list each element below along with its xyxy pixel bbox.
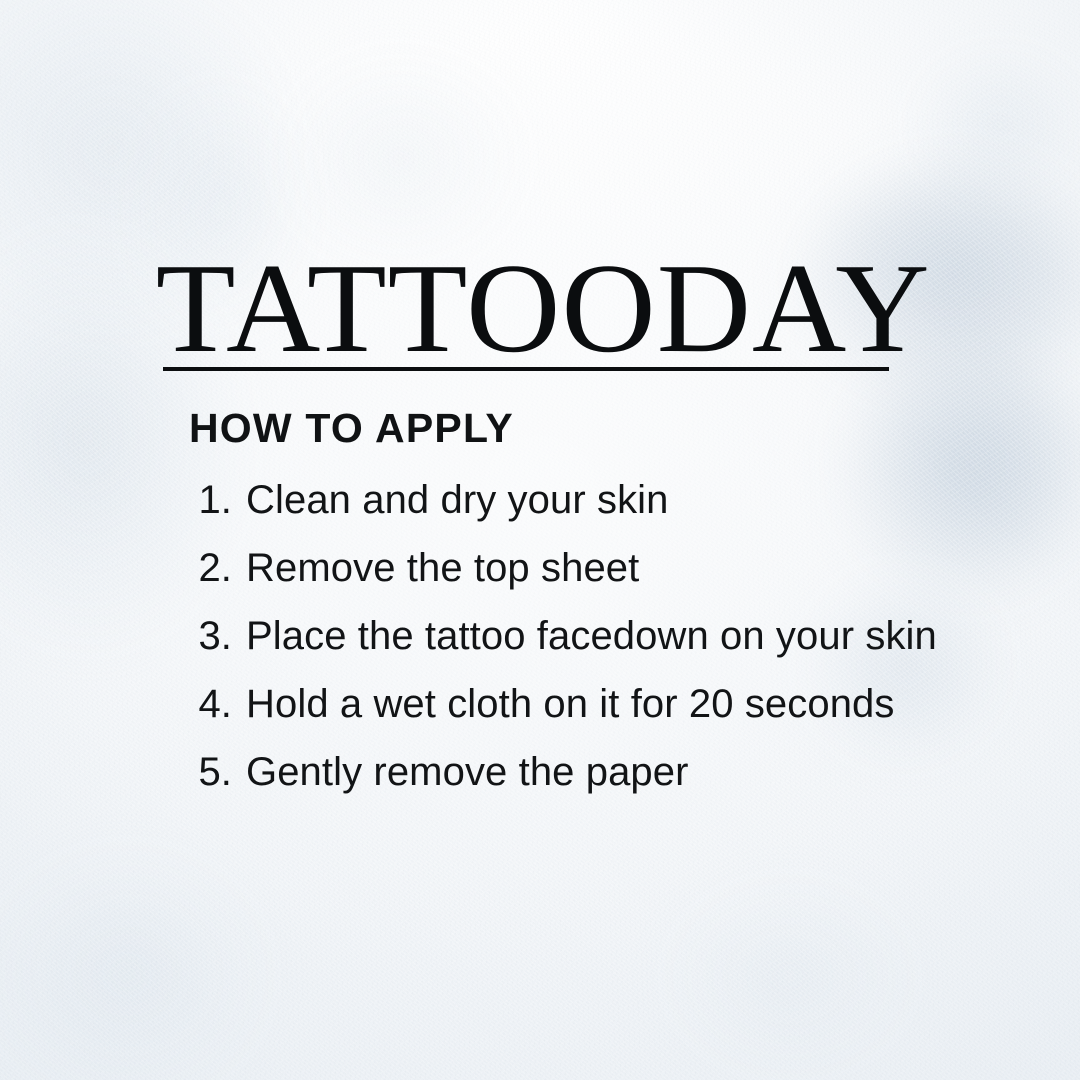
step-number: 2. xyxy=(186,534,232,602)
list-item: 4. Hold a wet cloth on it for 20 seconds xyxy=(186,670,1006,738)
section-heading-how-to-apply: HOW TO APPLY xyxy=(189,408,514,449)
list-item: 2. Remove the top sheet xyxy=(186,534,1006,602)
steps-list: 1. Clean and dry your skin 2. Remove the… xyxy=(186,466,1006,806)
step-number: 5. xyxy=(186,738,232,806)
step-text: Gently remove the paper xyxy=(246,738,689,806)
list-item: 1. Clean and dry your skin xyxy=(186,466,1006,534)
list-item: 5. Gently remove the paper xyxy=(186,738,1006,806)
step-text: Clean and dry your skin xyxy=(246,466,669,534)
step-number: 1. xyxy=(186,466,232,534)
title-divider-rule xyxy=(163,367,889,371)
list-item: 3. Place the tattoo facedown on your ski… xyxy=(186,602,1006,670)
card-content: TATTOODAY HOW TO APPLY 1. Clean and dry … xyxy=(0,0,1080,1080)
step-text: Hold a wet cloth on it for 20 seconds xyxy=(246,670,895,738)
instruction-card: TATTOODAY HOW TO APPLY 1. Clean and dry … xyxy=(0,0,1080,1080)
step-text: Remove the top sheet xyxy=(246,534,639,602)
step-number: 3. xyxy=(186,602,232,670)
step-number: 4. xyxy=(186,670,232,738)
brand-title: TATTOODAY xyxy=(156,244,897,372)
step-text: Place the tattoo facedown on your skin xyxy=(246,602,937,670)
